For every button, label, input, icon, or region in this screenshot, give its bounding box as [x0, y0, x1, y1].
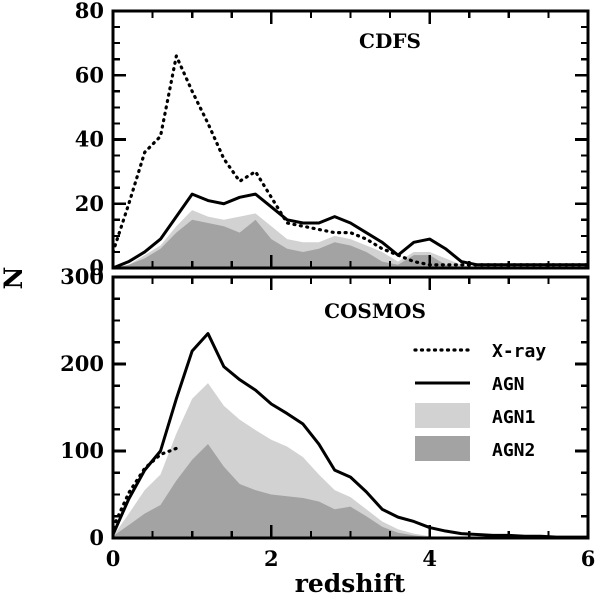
legend-swatch-light	[415, 403, 470, 428]
redshift-distribution-chart: N redshift 020406080CDFS 01002003000246C…	[0, 0, 600, 600]
x-tick-label: 4	[422, 546, 437, 571]
legend-label: AGN2	[492, 440, 535, 461]
legend-item-x-ray[interactable]: X-ray	[415, 341, 546, 362]
legend-item-agn1[interactable]: AGN1	[415, 403, 535, 428]
legend: X-rayAGNAGN1AGN2	[415, 341, 546, 461]
x-axis-title: redshift	[295, 569, 406, 598]
legend-label: X-ray	[492, 341, 546, 362]
x-tick-label: 6	[581, 546, 596, 571]
x-tick-label: 0	[106, 546, 121, 571]
figure-root: N redshift 020406080CDFS 01002003000246C…	[0, 0, 600, 600]
y-axis-title: N	[0, 267, 28, 290]
y-tick-label: 0	[89, 525, 104, 550]
y-tick-label: 80	[75, 0, 104, 23]
legend-swatch-dark	[415, 436, 470, 461]
y-tick-label: 300	[60, 264, 104, 289]
legend-label: AGN	[492, 374, 525, 395]
x-tick-label: 2	[264, 546, 279, 571]
panel-title-cosmos: COSMOS	[324, 299, 426, 323]
legend-item-agn[interactable]: AGN	[415, 374, 525, 395]
panel-cdfs: 020406080CDFS	[75, 0, 588, 280]
y-tick-label: 20	[75, 191, 104, 216]
y-tick-label: 40	[75, 127, 104, 152]
legend-label: AGN1	[492, 407, 535, 428]
legend-item-agn2[interactable]: AGN2	[415, 436, 535, 461]
y-tick-label: 200	[60, 351, 104, 376]
y-tick-label: 60	[75, 62, 104, 87]
panel-title-cdfs: CDFS	[359, 29, 421, 53]
y-tick-label: 100	[60, 438, 104, 463]
